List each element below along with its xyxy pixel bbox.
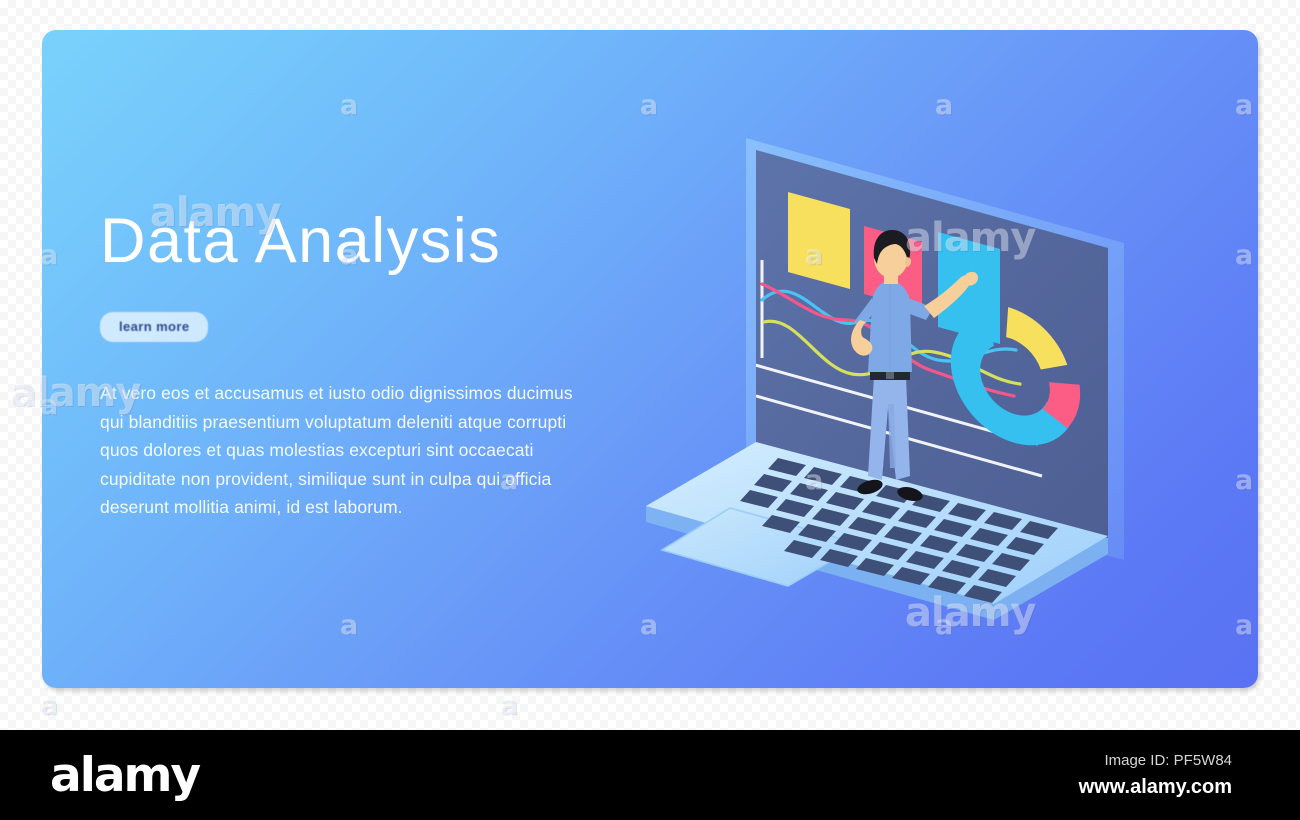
hero-text-column: Data Analysis learn more At vero eos et …	[100, 208, 620, 522]
hero-body-text: At vero eos et accusamus et iusto odio d…	[100, 379, 590, 522]
image-id-label: Image ID: PF5W84	[1104, 752, 1232, 769]
kpi-card-yellow	[788, 192, 850, 289]
alamy-footer-bar: alamy Image ID: PF5W84 www.alamy.com	[0, 730, 1300, 820]
hero-illustration-card: Data Analysis learn more At vero eos et …	[42, 30, 1258, 688]
isometric-laptop-illustration	[638, 108, 1258, 668]
alamy-url-label: www.alamy.com	[1079, 776, 1232, 799]
screenshot-stage: Data Analysis learn more At vero eos et …	[0, 0, 1300, 820]
page-title: Data Analysis	[100, 208, 620, 274]
alamy-logo: alamy	[50, 748, 199, 803]
learn-more-button[interactable]: learn more	[100, 312, 208, 342]
